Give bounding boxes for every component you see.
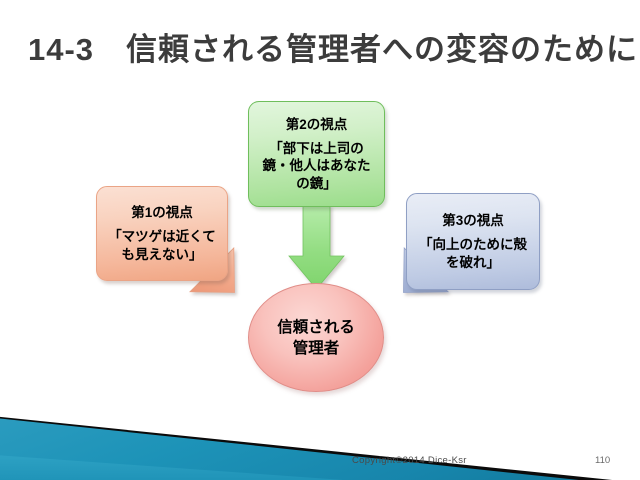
node-view1-heading: 第1の視点 bbox=[131, 204, 193, 221]
decoration-teal-wedge bbox=[0, 398, 640, 480]
center-node-line2: 管理者 bbox=[293, 338, 340, 359]
node-view2-body-line3: の鏡」 bbox=[263, 175, 371, 193]
diagram-node-view1[interactable]: 第1の視点 「マツゲは近くて も見えない」 bbox=[96, 186, 228, 281]
slide-canvas: 14-3 信頼される管理者への変容のために bbox=[0, 0, 640, 480]
diagram-node-view2[interactable]: 第2の視点 「部下は上司の 鏡・他人はあなた の鏡」 bbox=[248, 101, 385, 207]
decoration-light-band bbox=[0, 396, 640, 480]
node-view1-body-line1: 「マツゲは近くて bbox=[108, 228, 216, 246]
node-view1-body-line2: も見えない」 bbox=[108, 246, 216, 264]
center-node-line1: 信頼される bbox=[277, 317, 355, 338]
node-view2-body: 「部下は上司の 鏡・他人はあなた の鏡」 bbox=[256, 140, 378, 193]
decoration-teal-wedge-lower bbox=[0, 455, 640, 480]
node-view2-body-line2: 鏡・他人はあなた bbox=[263, 157, 371, 175]
footer-copyright: Copyright©2014 Dice-Ksr bbox=[352, 455, 467, 466]
page-title: 14-3 信頼される管理者への変容のために bbox=[28, 24, 628, 76]
node-view3-body-line2: を破れ」 bbox=[419, 254, 527, 272]
node-view1-body: 「マツゲは近くて も見えない」 bbox=[101, 228, 223, 263]
node-view2-body-line1: 「部下は上司の bbox=[263, 140, 371, 158]
footer-page-number: 110 bbox=[595, 455, 610, 466]
diagram-node-view3[interactable]: 第3の視点 「向上のために殻 を破れ」 bbox=[406, 193, 540, 290]
node-view3-body: 「向上のために殻 を破れ」 bbox=[412, 236, 534, 271]
diagram-center-node[interactable]: 信頼される 管理者 bbox=[248, 283, 384, 392]
node-view3-body-line1: 「向上のために殻 bbox=[419, 236, 527, 254]
arrow-view2-to-center bbox=[289, 205, 344, 289]
decoration-black-stripe bbox=[0, 396, 640, 480]
node-view3-heading: 第3の視点 bbox=[442, 212, 504, 229]
node-view2-heading: 第2の視点 bbox=[286, 116, 348, 133]
